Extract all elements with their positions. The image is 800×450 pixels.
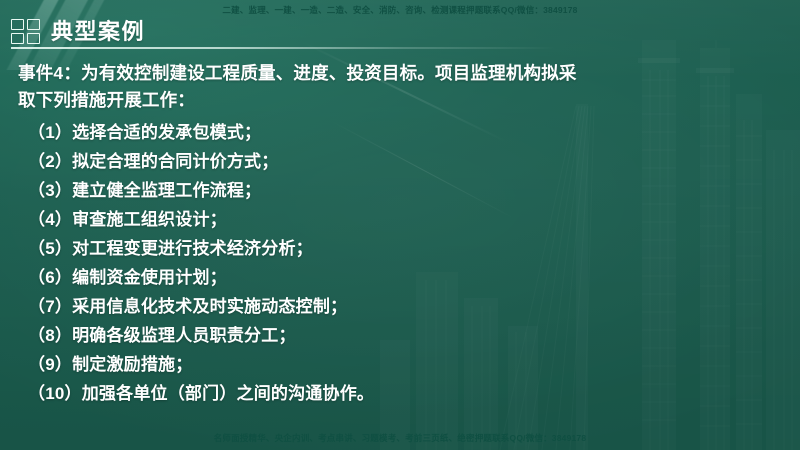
list-item: （2） 拟定合理的合同计价方式； — [18, 147, 776, 176]
case-intro-paragraph: 事件4：为有效控制建设工程质量、进度、投资目标。项目监理机构拟采取下列措施开展工… — [18, 60, 578, 114]
list-item: （5） 对工程变更进行技术经济分析； — [18, 234, 776, 263]
list-item: （8） 明确各级监理人员职责分工； — [18, 321, 776, 350]
list-item-number: （5） — [28, 234, 72, 263]
list-item: （4） 审查施工组织设计； — [18, 205, 776, 234]
list-item-number: （4） — [28, 205, 72, 234]
list-item-text: 选择合适的发承包模式； — [72, 118, 776, 147]
list-item-text: 明确各级监理人员职责分工； — [72, 321, 776, 350]
title-underline-rule — [11, 47, 556, 49]
list-item-text: 拟定合理的合同计价方式； — [72, 147, 776, 176]
list-item: （9） 制定激励措施； — [18, 350, 776, 379]
top-promo-banner-text: 二建、监理、一建、一造、二造、安全、消防、咨询、检测课程押题联系QQ/微信：38… — [222, 4, 577, 16]
list-item: （1） 选择合适的发承包模式； — [18, 118, 776, 147]
list-item-number: （9） — [28, 350, 72, 379]
list-item-number: （2） — [28, 147, 72, 176]
list-item: （7） 采用信息化技术及时实施动态控制； — [18, 292, 776, 321]
list-item-text: 编制资金使用计划； — [72, 263, 776, 292]
list-item: （3） 建立健全监理工作流程； — [18, 176, 776, 205]
measures-list: （1） 选择合适的发承包模式； （2） 拟定合理的合同计价方式； （3） 建立健… — [18, 118, 776, 408]
list-item-text: 采用信息化技术及时实施动态控制； — [72, 292, 776, 321]
grid-2x2-icon — [11, 19, 40, 44]
list-item-number: （3） — [28, 176, 72, 205]
page-title: 典型案例 — [51, 21, 145, 43]
footer-promo-banner-text: 名师面授精华、央企内训、考点串讲、习题模考、考前三页纸、绝密押题联系QQ/微信：… — [214, 432, 587, 444]
list-item-text: 审查施工组织设计； — [72, 205, 776, 234]
footer-promo-banner: 名师面授精华、央企内训、考点串讲、习题模考、考前三页纸、绝密押题联系QQ/微信：… — [0, 432, 800, 444]
list-item-text: 对工程变更进行技术经济分析； — [72, 234, 776, 263]
slide-body: 事件4：为有效控制建设工程质量、进度、投资目标。项目监理机构拟采取下列措施开展工… — [18, 60, 776, 408]
list-item-number: （1） — [28, 118, 72, 147]
list-item: （6） 编制资金使用计划； — [18, 263, 776, 292]
slide-title-row: 典型案例 — [11, 19, 145, 44]
list-item-text: 加强各单位（部门）之间的沟通协作。 — [82, 379, 776, 408]
list-item-number: （6） — [28, 263, 72, 292]
list-item-number: （7） — [28, 292, 72, 321]
top-promo-banner: 二建、监理、一建、一造、二造、安全、消防、咨询、检测课程押题联系QQ/微信：38… — [0, 0, 800, 20]
list-item: （10） 加强各单位（部门）之间的沟通协作。 — [18, 379, 776, 408]
slide-canvas: 二建、监理、一建、一造、二造、安全、消防、咨询、检测课程押题联系QQ/微信：38… — [0, 0, 800, 450]
list-item-number: （8） — [28, 321, 72, 350]
list-item-text: 建立健全监理工作流程； — [72, 176, 776, 205]
list-item-text: 制定激励措施； — [72, 350, 776, 379]
list-item-number: （10） — [28, 379, 82, 408]
